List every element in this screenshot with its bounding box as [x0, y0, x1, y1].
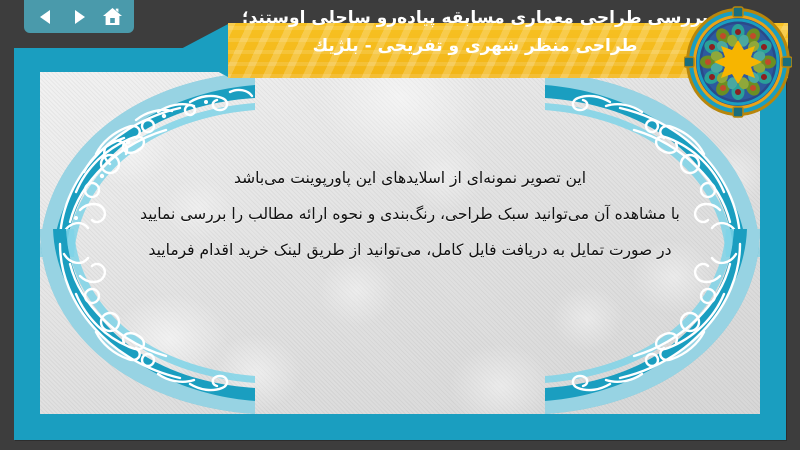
triangle-left-icon: [37, 8, 55, 26]
persian-mandala-icon: [684, 6, 792, 118]
slide-navigation-bar: [24, 0, 134, 33]
body-line-1: این تصویر نمونه‌ای از اسلایدهای این پاور…: [90, 160, 730, 196]
triangle-right-icon: [70, 8, 88, 26]
home-icon: [102, 7, 123, 26]
slide-body-text: این تصویر نمونه‌ای از اسلایدهای این پاور…: [90, 160, 730, 268]
home-button[interactable]: [100, 6, 124, 28]
next-slide-button[interactable]: [67, 6, 91, 28]
body-line-2: با مشاهده آن می‌توانید سبک طراحی، رنگ‌بن…: [90, 196, 730, 232]
body-line-3: در صورت تمایل به دریافت فایل کامل، می‌تو…: [90, 232, 730, 268]
slide-viewer: این تصویر نمونه‌ای از اسلایدهای این پاور…: [0, 0, 800, 450]
slide-frame: این تصویر نمونه‌ای از اسلایدهای این پاور…: [14, 48, 786, 440]
previous-slide-button[interactable]: [34, 6, 58, 28]
slide-canvas: این تصویر نمونه‌ای از اسلایدهای این پاور…: [40, 72, 760, 414]
